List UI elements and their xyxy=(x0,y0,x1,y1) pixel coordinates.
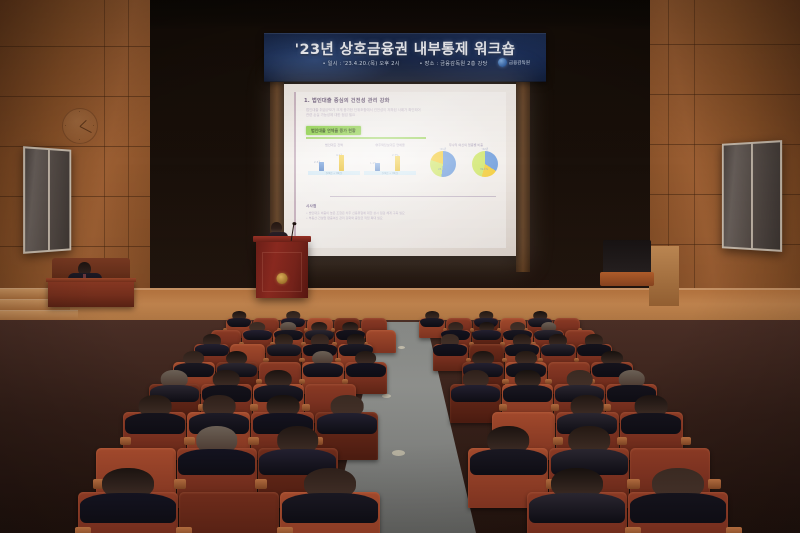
audience-member xyxy=(479,322,495,338)
audience-member xyxy=(139,395,172,428)
audience-shoulders xyxy=(420,318,445,327)
fss-logo: 금융감독원 xyxy=(498,58,530,67)
audience-member xyxy=(618,370,645,397)
audience-member xyxy=(277,426,319,467)
seat-armrest xyxy=(625,527,641,533)
audience-shoulders xyxy=(503,385,552,402)
audience-member xyxy=(161,370,188,397)
audience-member xyxy=(196,426,238,467)
chart-label: 非주택담보대출 연체율 xyxy=(375,142,405,147)
wall-clock-icon xyxy=(62,108,98,144)
pie-chart-prev-year xyxy=(430,151,456,177)
seat-armrest xyxy=(342,379,349,384)
audience-shoulders xyxy=(451,385,500,402)
seat-armrest xyxy=(176,527,192,533)
gold-emblem-icon xyxy=(277,273,288,284)
seat-armrest xyxy=(499,404,507,410)
seat-armrest xyxy=(250,404,258,410)
audience-shoulders xyxy=(433,344,466,356)
slide-tag-rule xyxy=(306,137,426,139)
audience-member xyxy=(441,334,459,353)
audience-shoulders xyxy=(541,344,574,356)
implications-title: 시사점 xyxy=(306,204,317,208)
slide-bar-chart-1: 법인대출 잔액 2.3조 4.1조 ('21년 → '22년) xyxy=(308,142,360,184)
implication-text: 부동산·건설업 편중여신 관리 강화와 충당금 적립 확대 필요 xyxy=(309,216,383,220)
seat-armrest xyxy=(256,379,263,384)
audience-member xyxy=(267,395,300,428)
equipment-base xyxy=(600,272,654,286)
audience-shoulders xyxy=(470,449,547,475)
slide-highlight-tag: 법인대출 연체율 증가 현황 xyxy=(306,126,361,135)
audience-shoulders xyxy=(529,493,625,523)
head-table xyxy=(48,281,134,307)
audience-shoulders xyxy=(346,363,386,377)
implication-item: • 부동산·건설업 편중여신 관리 강화와 충당금 적립 확대 필요 xyxy=(306,216,496,221)
audience-member xyxy=(312,351,334,373)
seat-armrest xyxy=(617,437,627,445)
chart-label: 무수익 여신의 업종별 비중 xyxy=(449,142,483,147)
audience-member xyxy=(549,334,567,353)
auditorium-scene: '23년 상호금융권 내부통제 워크숍 • 일시 : '23.4.20.(목) … xyxy=(0,0,800,533)
audience-member xyxy=(102,468,154,515)
audience-member xyxy=(304,468,356,515)
seat-armrest xyxy=(277,527,293,533)
seat-armrest xyxy=(75,527,91,533)
banner-bullet-date: • xyxy=(322,61,325,67)
audience-shoulders xyxy=(282,493,378,523)
audience-member xyxy=(213,370,240,397)
circle-emblem-icon xyxy=(498,58,507,67)
audience-shoulders xyxy=(621,413,681,434)
equipment-case xyxy=(603,240,651,274)
audience-member xyxy=(652,468,704,515)
presentation-slide: 1. 법인대출 중심의 건전성 관리 강화 법인대출 취급규모가 크게 증가한 … xyxy=(294,92,506,248)
pie-note: 39.1% xyxy=(480,168,488,171)
seat-armrest xyxy=(726,527,742,533)
banner-bullet-place: • xyxy=(419,61,422,67)
audience-member xyxy=(569,426,611,467)
banner-date: 일시 : '23.4.20.(목) 오후 2시 xyxy=(328,61,400,67)
seat-armrest xyxy=(184,437,194,445)
audience-member xyxy=(265,370,292,397)
slide-body-line: 관련 손실 가능성에 대한 점검 필요 xyxy=(306,113,498,118)
audience-member xyxy=(275,334,293,353)
audience-member xyxy=(488,426,530,467)
audience-shoulders xyxy=(317,413,377,434)
audience-shoulders xyxy=(125,413,185,434)
pie-chart-current-year xyxy=(472,151,498,177)
seat-armrest xyxy=(502,379,509,384)
implication-text: 법인대출 비중이 높은 조합은 차주 신용위험에 대한 상시 점검 체계 구축 … xyxy=(309,211,405,215)
seat-armrest xyxy=(551,404,559,410)
audience-member xyxy=(425,311,439,325)
audience-member xyxy=(551,468,603,515)
chart-axis-note: ('21년 → '22년) xyxy=(326,171,343,175)
banner-title: '23년 상호금융권 내부통제 워크숍 xyxy=(264,38,546,59)
slide-chart-row: 법인대출 잔액 2.3조 4.1조 ('21년 → '22년) 非주택담보대출 … xyxy=(308,142,498,184)
chart-axis-note: ('21년 → '22년) xyxy=(382,171,399,175)
slide-bar-chart-2: 非주택담보대출 연체율 1.1% 2.7% ('21년 → '22년) xyxy=(364,142,416,184)
audience-member xyxy=(571,395,604,428)
seat-armrest xyxy=(302,404,310,410)
audience-member xyxy=(514,370,541,397)
audience-member xyxy=(203,334,221,353)
slide-body-text: 법인대출 취급규모가 크게 증가한 단위조합에서 건전성이 저하된 사례가 확인… xyxy=(306,108,498,119)
seat-armrest xyxy=(248,437,258,445)
wall-speaker-panel-left xyxy=(23,146,71,254)
audience-shoulders xyxy=(267,344,300,356)
banner-place: 장소 : 금융감독원 2층 강당 xyxy=(424,61,487,67)
audience-member xyxy=(635,395,668,428)
audience-member xyxy=(331,395,364,428)
seat-armrest xyxy=(627,479,640,489)
seat-armrest xyxy=(708,479,721,489)
audience-seat xyxy=(179,492,279,533)
seat-armrest xyxy=(255,479,268,489)
audience-member xyxy=(249,322,265,338)
audience-shoulders xyxy=(303,363,343,377)
seat-armrest xyxy=(120,437,130,445)
audience-shoulders xyxy=(227,318,252,327)
pie-caption: '21년 xyxy=(440,147,447,151)
seat-armrest xyxy=(545,379,552,384)
slide-pie-charts: 무수익 여신의 업종별 비중 '21년 28.4% '22년 39.1% xyxy=(424,142,508,184)
pie-note: 28.4% xyxy=(438,168,446,171)
lectern-top xyxy=(253,236,311,242)
seat-armrest xyxy=(174,479,187,489)
screen-frame-right xyxy=(516,66,530,272)
audience-member xyxy=(566,370,593,397)
event-banner: '23년 상호금융권 내부통제 워크숍 • 일시 : '23.4.20.(목) … xyxy=(264,33,546,82)
lectern-panel xyxy=(262,252,302,292)
seat-armrest xyxy=(681,437,691,445)
projection-screen: 1. 법인대출 중심의 건전성 관리 강화 법인대출 취급규모가 크게 증가한 … xyxy=(284,84,516,256)
slide-implications: 시사점 • 법인대출 비중이 높은 조합은 차주 신용위험에 대한 상시 점검 … xyxy=(306,192,496,221)
audience-member xyxy=(232,311,246,325)
lectern xyxy=(256,240,308,298)
seat-armrest xyxy=(603,404,611,410)
audience-member xyxy=(203,395,236,428)
seat-armrest xyxy=(553,437,563,445)
slide-heading: 1. 법인대출 중심의 건전성 관리 강화 xyxy=(304,97,390,104)
fss-logo-text: 금융감독원 xyxy=(509,60,530,66)
av-equipment-stage-right xyxy=(603,240,653,288)
wall-speaker-panel-right xyxy=(722,140,782,252)
audience-shoulders xyxy=(80,493,176,523)
audience-shoulders xyxy=(243,330,272,340)
audience-member xyxy=(462,370,489,397)
audience-shoulders xyxy=(178,449,255,475)
audience-member xyxy=(355,351,377,373)
audience-shoulders xyxy=(630,493,726,523)
chart-label: 법인대출 잔액 xyxy=(325,142,343,147)
audience-shoulders xyxy=(472,330,501,340)
seat-armrest xyxy=(299,379,306,384)
audience-member xyxy=(585,334,603,353)
pie-caption: '22년 xyxy=(482,147,489,151)
